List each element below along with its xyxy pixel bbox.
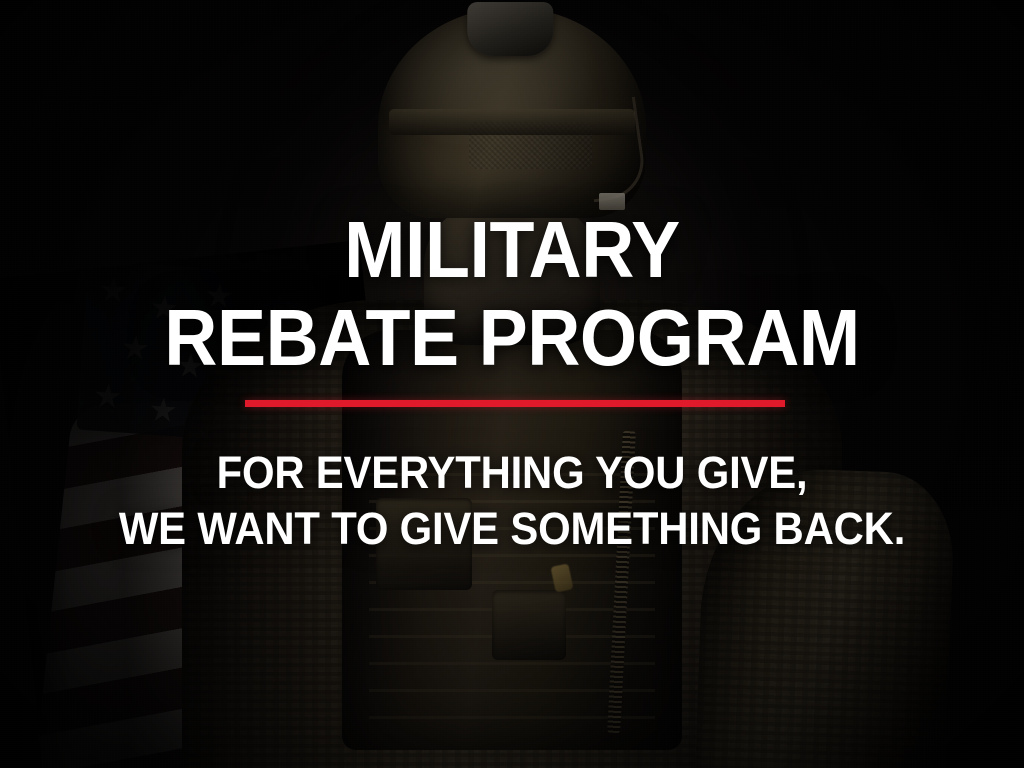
headline-line-2: REBATE PROGRAM [41, 300, 983, 375]
headline-line-1: MILITARY [41, 212, 983, 287]
military-rebate-poster: MILITARY REBATE PROGRAM FOR EVERYTHING Y… [0, 0, 1024, 768]
red-divider-rule [245, 400, 785, 407]
subheadline-line-2: WE WANT TO GIVE SOMETHING BACK. [36, 500, 988, 558]
text-overlay: MILITARY REBATE PROGRAM FOR EVERYTHING Y… [0, 0, 1024, 768]
subheadline-line-1: FOR EVERYTHING YOU GIVE, [36, 444, 988, 502]
